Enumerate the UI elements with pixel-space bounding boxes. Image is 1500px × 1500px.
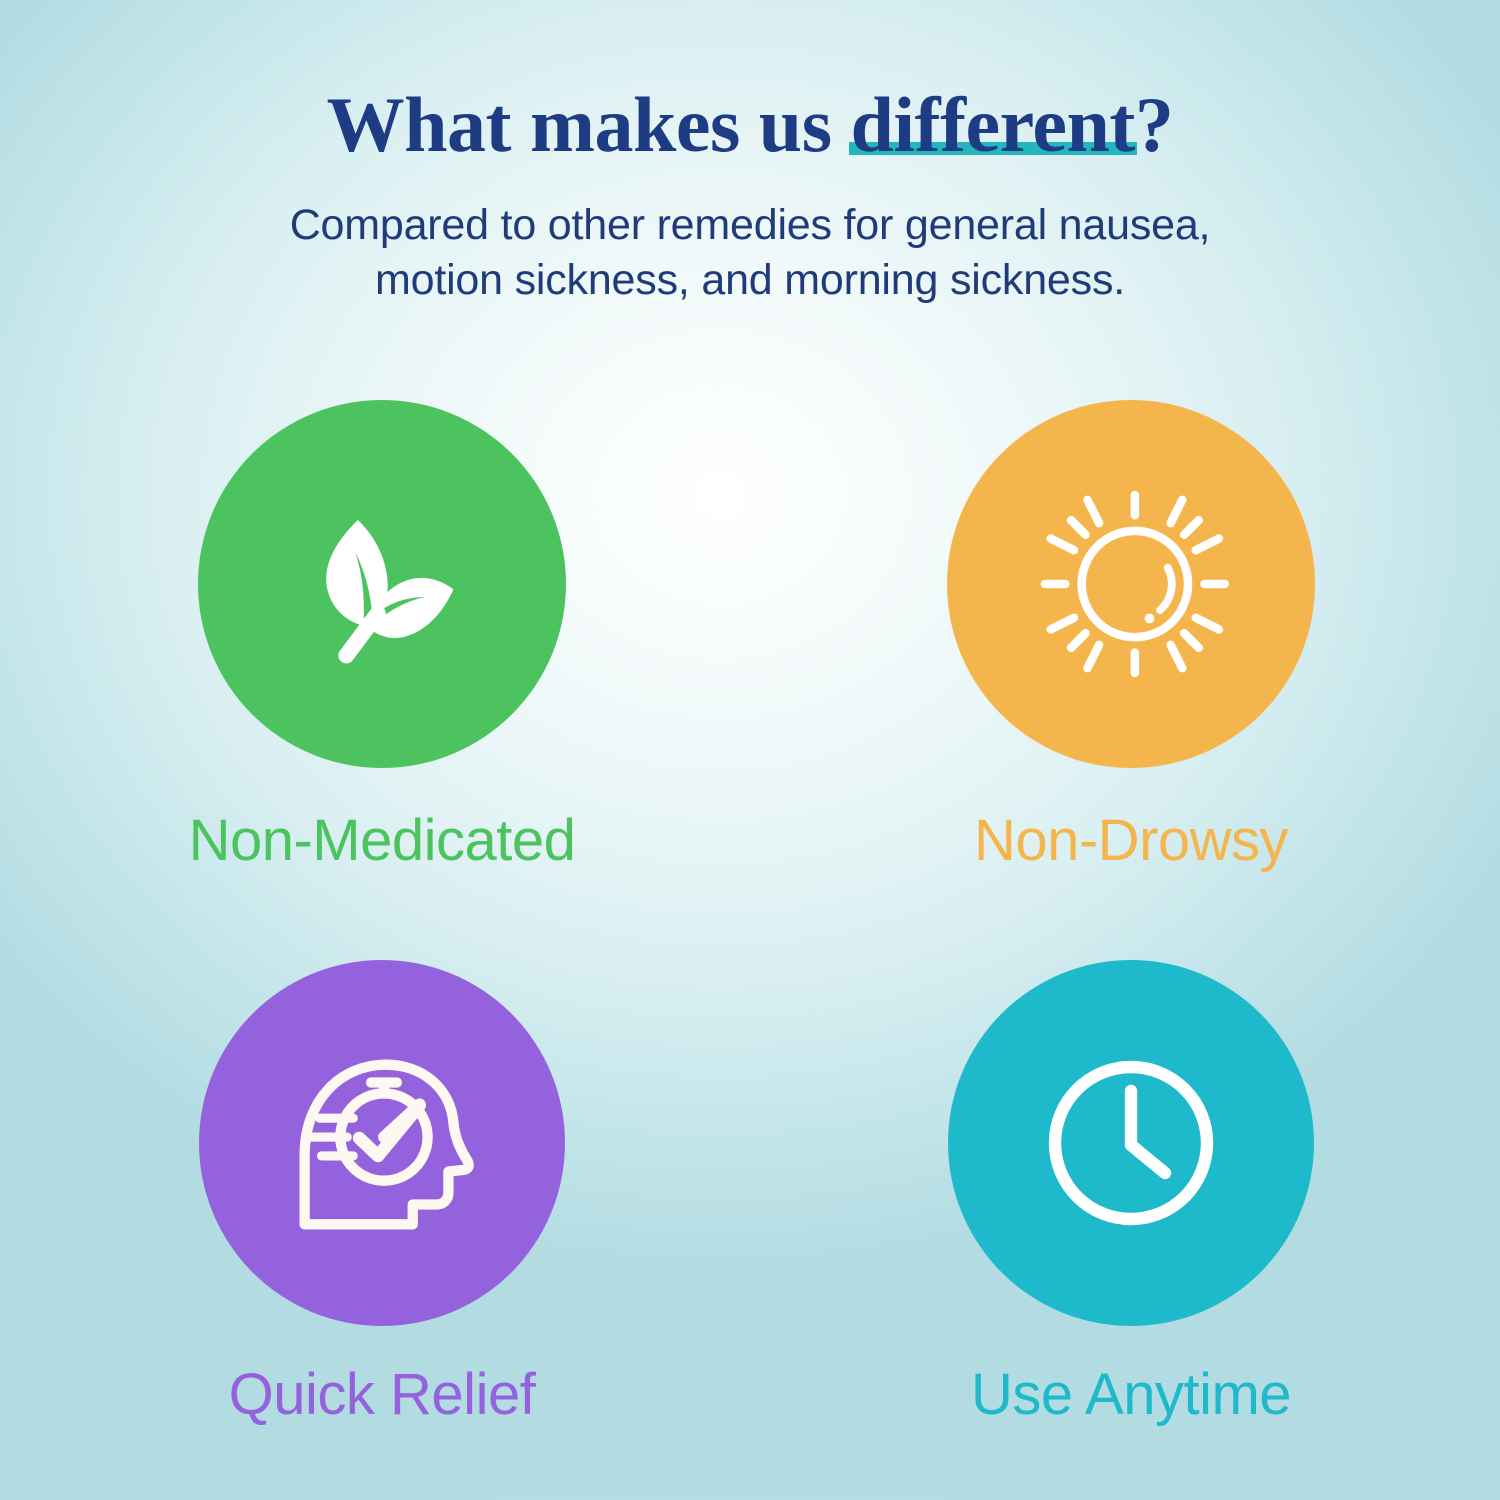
feature-badge-quick-relief [199, 960, 565, 1326]
feature-badge-use-anytime [948, 960, 1314, 1326]
feature-label-use-anytime: Use Anytime [971, 1366, 1291, 1424]
feature-grid: Non-Medicated [0, 400, 1500, 1500]
feature-label-non-drowsy: Non-Drowsy [974, 812, 1288, 870]
feature-label-non-medicated: Non-Medicated [189, 812, 576, 870]
page-subtitle-line-2: motion sickness, and morning sickness. [375, 256, 1125, 304]
clock-icon [1031, 1043, 1231, 1243]
page-title: What makes us different? [0, 86, 1500, 164]
feature-cell-non-drowsy: Non-Drowsy [750, 400, 1500, 960]
poster-root: What makes us different? Compared to oth… [0, 0, 1500, 1500]
feature-badge-non-drowsy [947, 400, 1315, 768]
feature-label-quick-relief: Quick Relief [229, 1366, 536, 1424]
feature-cell-use-anytime: Use Anytime [750, 960, 1500, 1500]
page-subtitle: Compared to other remedies for general n… [0, 164, 1500, 308]
head-stopwatch-icon [263, 1024, 501, 1262]
page-title-emphasis: different [851, 81, 1135, 168]
feature-badge-non-medicated [198, 400, 566, 768]
sun-icon [1015, 468, 1247, 700]
header: What makes us different? Compared to oth… [0, 0, 1500, 308]
feature-cell-quick-relief: Quick Relief [0, 960, 750, 1500]
page-subtitle-line-1: Compared to other remedies for general n… [290, 201, 1211, 249]
page-title-part-3: ? [1135, 81, 1174, 168]
page-title-emphasis-wrap: different [851, 86, 1135, 164]
feature-cell-non-medicated: Non-Medicated [0, 400, 750, 960]
page-title-part-1: What makes us [327, 81, 851, 168]
leaf-icon [277, 479, 487, 689]
